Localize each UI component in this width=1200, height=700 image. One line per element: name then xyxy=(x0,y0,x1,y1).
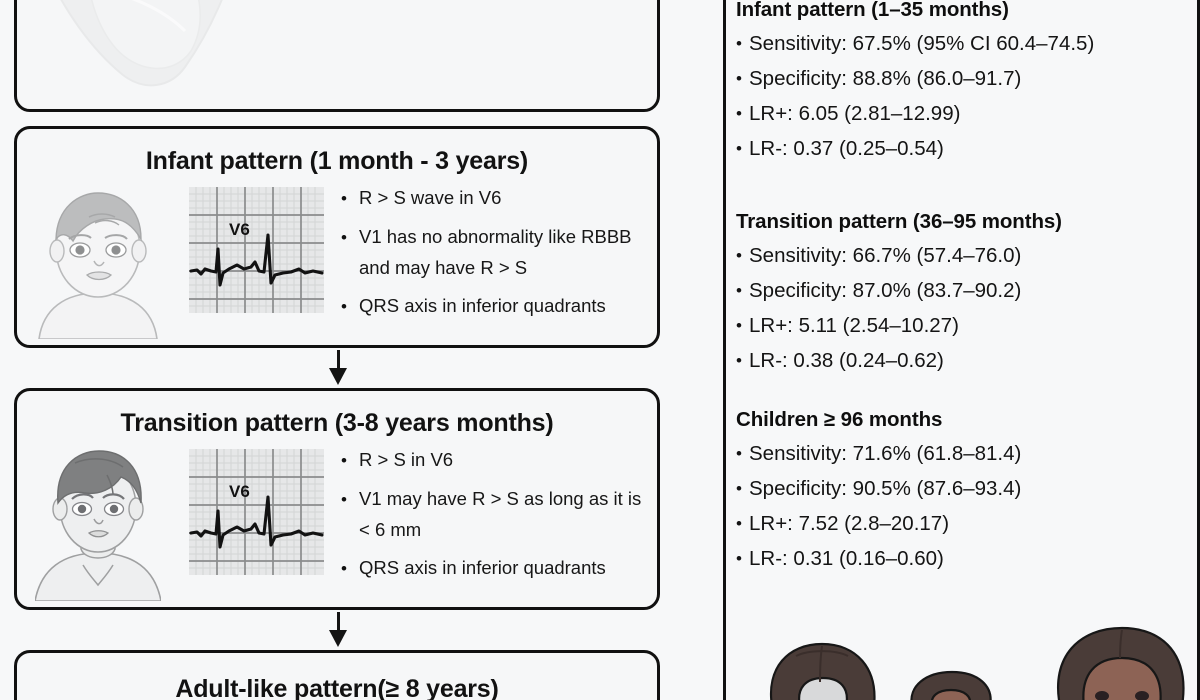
stat-line: •Specificity: 90.5% (87.6–93.4) xyxy=(736,471,1196,506)
three-children-heads-illustration xyxy=(736,616,1196,700)
stat-line: •LR+: 5.11 (2.54–10.27) xyxy=(736,308,1196,343)
adult-pattern-title: Adult-like pattern(≥ 8 years) xyxy=(17,675,657,700)
transition-ecg-strip: V6 xyxy=(189,449,324,575)
list-item: V1 has no abnormality like RBBB and may … xyxy=(359,222,649,283)
stat-group-heading: Infant pattern (1–35 months) xyxy=(736,0,1196,22)
stat-line: •LR-: 0.37 (0.25–0.54) xyxy=(736,131,1196,166)
stat-line: •Sensitivity: 67.5% (95% CI 60.4–74.5) xyxy=(736,26,1196,61)
stat-value: Specificity: 88.8% (86.0–91.7) xyxy=(749,67,1021,90)
right-stats-column: Infant pattern (1–35 months) •Sensitivit… xyxy=(726,0,1200,700)
study-summary-box: CHILDHEART case-control study 1637 parti… xyxy=(14,0,660,112)
infant-pattern-title: Infant pattern (1 month - 3 years) xyxy=(17,147,657,176)
transition-pattern-title: Transition pattern (3-8 years months) xyxy=(17,409,657,438)
stat-value: Sensitivity: 71.6% (61.8–81.4) xyxy=(749,442,1021,465)
child-avatar xyxy=(35,445,161,601)
stat-value: LR-: 0.31 (0.16–0.60) xyxy=(749,547,944,570)
adult-pattern-box: Adult-like pattern(≥ 8 years) xyxy=(14,650,660,700)
list-item: V1 may have R > S as long as it is < 6 m… xyxy=(359,484,649,545)
stat-value: Specificity: 90.5% (87.6–93.4) xyxy=(749,477,1021,500)
stat-group-heading: Transition pattern (36–95 months) xyxy=(736,210,1196,234)
transition-pattern-box: Transition pattern (3-8 years months) xyxy=(14,388,660,610)
list-item: R > S in V6 xyxy=(359,445,649,476)
stat-line: •LR-: 0.38 (0.24–0.62) xyxy=(736,343,1196,378)
stat-value: LR+: 7.52 (2.8–20.17) xyxy=(749,512,949,535)
stat-value: LR-: 0.37 (0.25–0.54) xyxy=(749,137,944,160)
stat-value: LR-: 0.38 (0.24–0.62) xyxy=(749,349,944,372)
ecg-strip-v6: V6 xyxy=(189,187,324,313)
stat-line: •LR+: 6.05 (2.81–12.99) xyxy=(736,96,1196,131)
transition-criteria-list: R > S in V6 V1 may have R > S as long as… xyxy=(339,445,649,592)
stat-value: Sensitivity: 67.5% (95% CI 60.4–74.5) xyxy=(749,32,1094,55)
stat-value: LR+: 6.05 (2.81–12.99) xyxy=(749,102,960,125)
child-face-illustration xyxy=(35,445,161,601)
stat-line: •Specificity: 88.8% (86.0–91.7) xyxy=(736,61,1196,96)
list-item: QRS axis in inferior quadrants xyxy=(359,553,649,584)
infant-avatar xyxy=(35,183,161,339)
infant-criteria-list: R > S wave in V6 V1 has no abnormality l… xyxy=(339,183,649,330)
infographic-root: CHILDHEART case-control study 1637 parti… xyxy=(0,0,1200,700)
left-flow-column: CHILDHEART case-control study 1637 parti… xyxy=(0,0,723,700)
list-item: R > S wave in V6 xyxy=(359,183,649,214)
infant-stats-group: Infant pattern (1–35 months) •Sensitivit… xyxy=(736,0,1196,166)
ecg-strip-v6: V6 xyxy=(189,449,324,575)
list-item: QRS axis in inferior quadrants xyxy=(359,291,649,322)
transition-stats-group: Transition pattern (36–95 months) •Sensi… xyxy=(736,210,1196,378)
ecg-lead-label: V6 xyxy=(229,220,250,239)
stat-line: •LR-: 0.31 (0.16–0.60) xyxy=(736,541,1196,576)
stat-line: •Specificity: 87.0% (83.7–90.2) xyxy=(736,273,1196,308)
ecg-lead-label: V6 xyxy=(229,482,250,501)
heart-illustration xyxy=(0,0,295,107)
infant-pattern-box: Infant pattern (1 month - 3 years) xyxy=(14,126,660,348)
stat-line: •LR+: 7.52 (2.8–20.17) xyxy=(736,506,1196,541)
stat-value: LR+: 5.11 (2.54–10.27) xyxy=(749,314,959,337)
stat-value: Sensitivity: 66.7% (57.4–76.0) xyxy=(749,244,1021,267)
stat-group-heading: Children ≥ 96 months xyxy=(736,408,1196,432)
stat-line: •Sensitivity: 66.7% (57.4–76.0) xyxy=(736,238,1196,273)
stat-value: Specificity: 87.0% (83.7–90.2) xyxy=(749,279,1021,302)
infant-face-illustration xyxy=(35,183,161,339)
stat-line: •Sensitivity: 71.6% (61.8–81.4) xyxy=(736,436,1196,471)
infant-ecg-strip: V6 xyxy=(189,187,324,313)
children-stats-group: Children ≥ 96 months •Sensitivity: 71.6%… xyxy=(736,408,1196,576)
